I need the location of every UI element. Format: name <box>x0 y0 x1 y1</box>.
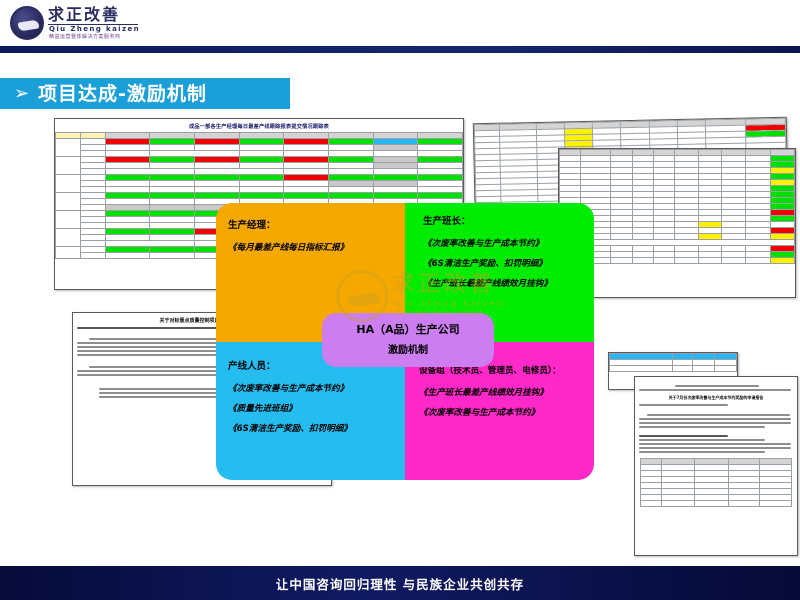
text-line <box>639 418 791 420</box>
matrix-center-node[interactable]: HA（A品）生产公司 激励机制 <box>322 313 494 367</box>
quadrant-item: 《次废率改善与生产成本节约》 <box>228 383 393 396</box>
quadrant-item: 《质量先进班组》 <box>228 403 393 416</box>
quadrant-item: 《生产班长最差产线绩效月挂钩》 <box>423 278 582 291</box>
quadrant-item: 《6S清洁生产奖励、扣罚明细》 <box>423 258 582 271</box>
text-line <box>639 443 791 445</box>
page-header: 求正改善 Qiu Zheng kaizen 精益运营整体解决方案服务商 <box>0 0 800 46</box>
text-line <box>639 404 728 406</box>
doc-tracking-table-title: 成品一部各生产经理每日最差产线跟踪报表提交情况跟踪表 <box>55 123 463 130</box>
quadrant-item: 《生产班长最差产线绩效月挂钩》 <box>419 387 582 400</box>
summary-table-grid <box>609 353 737 372</box>
bullet-arrow-icon: ➢ <box>14 82 29 106</box>
text-line <box>639 426 765 428</box>
quadrant-item: 《次废率改善与生产成本节约》 <box>423 238 582 251</box>
cost-report-table <box>640 458 792 507</box>
page-title: 项目达成-激励机制 <box>38 80 207 108</box>
logo-emblem-icon <box>10 6 44 40</box>
quadrant-role-label: 生产班长： <box>423 215 582 229</box>
footer-slogan: 让中国咨询回归理性 与民族企业共创共存 <box>276 574 524 593</box>
quadrant-role-label: 生产经理： <box>228 219 393 233</box>
table-row <box>560 258 795 264</box>
quadrant-item: 《6S清洁生产奖励、扣罚明细》 <box>228 423 393 436</box>
text-line <box>639 439 765 441</box>
table-row <box>640 501 791 507</box>
text-line <box>77 374 219 376</box>
doc-cost-report-title: 关于7月份次废率改善与生产成本节约奖励的申请报告 <box>635 395 797 401</box>
page-footer: 让中国咨询回归理性 与民族企业共创共存 <box>0 566 800 600</box>
section-title-bar: ➢ 项目达成-激励机制 <box>0 78 290 109</box>
text-line <box>77 327 219 329</box>
quadrant-item: 《每月最差产线每日指标汇报》 <box>228 242 393 255</box>
logo-tagline: 精益运营整体解决方案服务商 <box>49 34 121 41</box>
logo-english-name: Qiu Zheng kaizen <box>49 25 140 33</box>
text-line <box>639 389 791 391</box>
doc-cost-report: 关于7月份次废率改善与生产成本节约奖励的申请报告 <box>634 376 798 556</box>
text-line <box>639 422 791 424</box>
rate-table-front-grid <box>559 149 795 264</box>
text-line <box>639 435 728 437</box>
logo-chinese-name: 求正改善 <box>48 6 120 24</box>
text-line <box>647 414 790 416</box>
quadrant-item: 《次废率改善与生产成本节约》 <box>419 407 582 420</box>
table-row <box>610 366 737 372</box>
center-mechanism-label: 激励机制 <box>388 343 428 358</box>
brand-logo: 求正改善 Qiu Zheng kaizen 精益运营整体解决方案服务商 <box>10 4 140 44</box>
text-line <box>639 451 765 453</box>
text-line <box>639 447 791 449</box>
text-line <box>675 385 759 387</box>
header-divider-bar <box>0 46 800 53</box>
center-company-label: HA（A品）生产公司 <box>356 322 459 338</box>
